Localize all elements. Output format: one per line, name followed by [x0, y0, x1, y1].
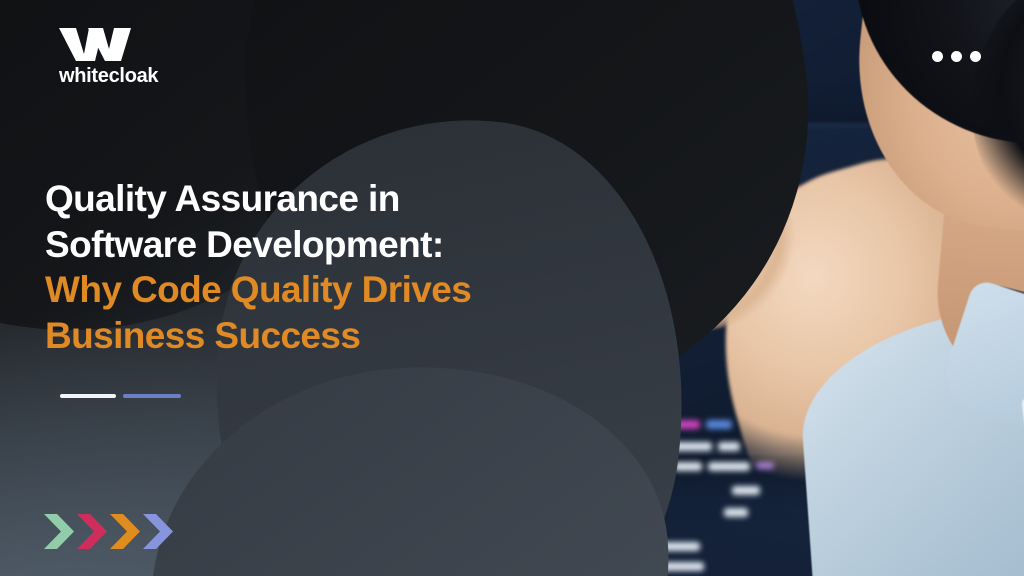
page-title: Quality Assurance in Software Developmen…: [45, 176, 605, 358]
chevron-crimson-icon: [77, 514, 107, 549]
decor-dot: [951, 51, 962, 62]
divider-rule-white: [60, 394, 116, 398]
brand-logo[interactable]: whitecloak: [59, 28, 158, 86]
chevron-group: [44, 514, 173, 549]
decor-dot: [932, 51, 943, 62]
chevron-blue-icon: [143, 514, 173, 549]
banner-content: whitecloak Quality Assurance in Software…: [0, 0, 1024, 576]
whitecloak-w-mark-icon: [59, 28, 133, 61]
brand-wordmark: whitecloak: [59, 66, 158, 86]
chevron-orange-icon: [110, 514, 140, 549]
headline-line-3: Why Code Quality Drives: [45, 267, 605, 313]
chevron-green-icon: [44, 514, 74, 549]
decor-dot: [970, 51, 981, 62]
blog-banner: whitecloak Quality Assurance in Software…: [0, 0, 1024, 576]
divider: [60, 394, 181, 398]
decor-dots: [932, 51, 981, 62]
headline-line-2: Software Development:: [45, 222, 605, 268]
headline-text: Quality Assurance in Software Developmen…: [45, 176, 605, 358]
headline-line-4: Business Success: [45, 313, 605, 359]
divider-rule-blue: [123, 394, 181, 398]
headline-line-1: Quality Assurance in: [45, 176, 605, 222]
